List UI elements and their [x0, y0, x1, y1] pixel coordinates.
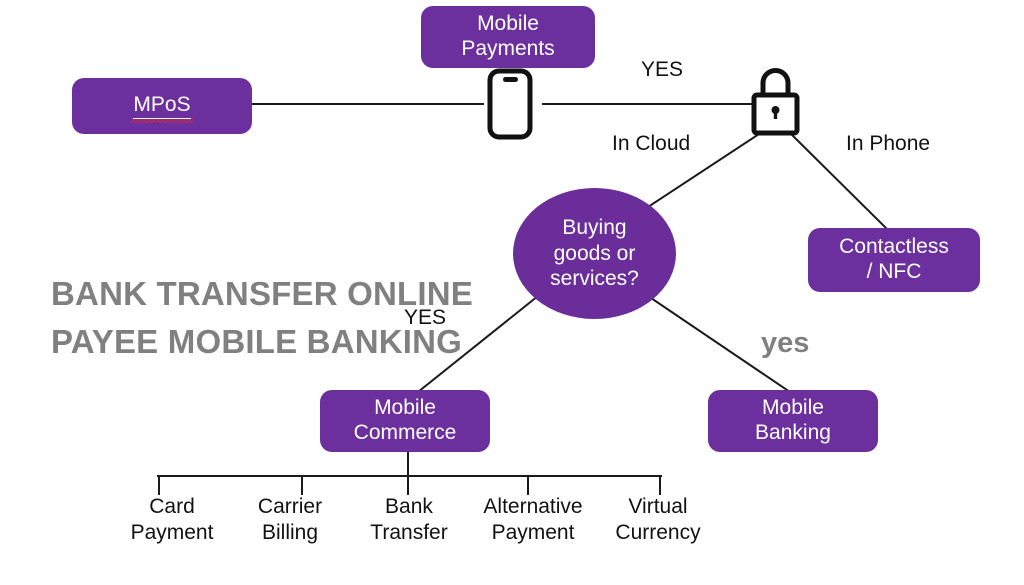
node-contactless-nfc[interactable]: Contactless / NFC: [808, 228, 980, 292]
node-mobile-payments-label: Mobile Payments: [461, 12, 554, 62]
leaf-label-alternative-payment: Alternative Payment: [483, 494, 582, 547]
leaf-label-virtual-currency: Virtual Currency: [615, 494, 700, 547]
edge-label-in-cloud: In Cloud: [612, 132, 690, 156]
node-mpos-label: MPoS: [133, 93, 190, 120]
node-decision-label: Buying goods or services?: [550, 215, 639, 292]
node-mpos[interactable]: MPoS: [72, 78, 252, 134]
leaf-label-card-payment: Card Payment: [131, 494, 214, 547]
smartphone-icon: [486, 68, 534, 140]
node-decision-buying-goods[interactable]: Buying goods or services?: [513, 188, 676, 319]
leaf-label-bank-transfer: Bank Transfer: [370, 494, 447, 547]
stray-yes-text: yes: [761, 327, 809, 360]
node-mobile-banking-label: Mobile Banking: [755, 396, 831, 446]
padlock-icon: [748, 62, 803, 136]
edge-label-in-phone: In Phone: [846, 132, 930, 156]
edge-label-yes-top: YES: [641, 58, 683, 82]
node-mobile-banking[interactable]: Mobile Banking: [708, 390, 878, 452]
node-mobile-payments[interactable]: Mobile Payments: [421, 6, 595, 68]
edge-label-yes-left: YES: [404, 306, 446, 330]
node-contactless-nfc-label: Contactless / NFC: [839, 235, 949, 285]
leaf-label-carrier-billing: Carrier Billing: [258, 494, 322, 547]
node-mobile-commerce[interactable]: Mobile Commerce: [320, 390, 490, 452]
node-mobile-commerce-label: Mobile Commerce: [354, 396, 457, 446]
diagram-canvas: MPoS Mobile Payments Buying goods or ser…: [0, 0, 1024, 585]
